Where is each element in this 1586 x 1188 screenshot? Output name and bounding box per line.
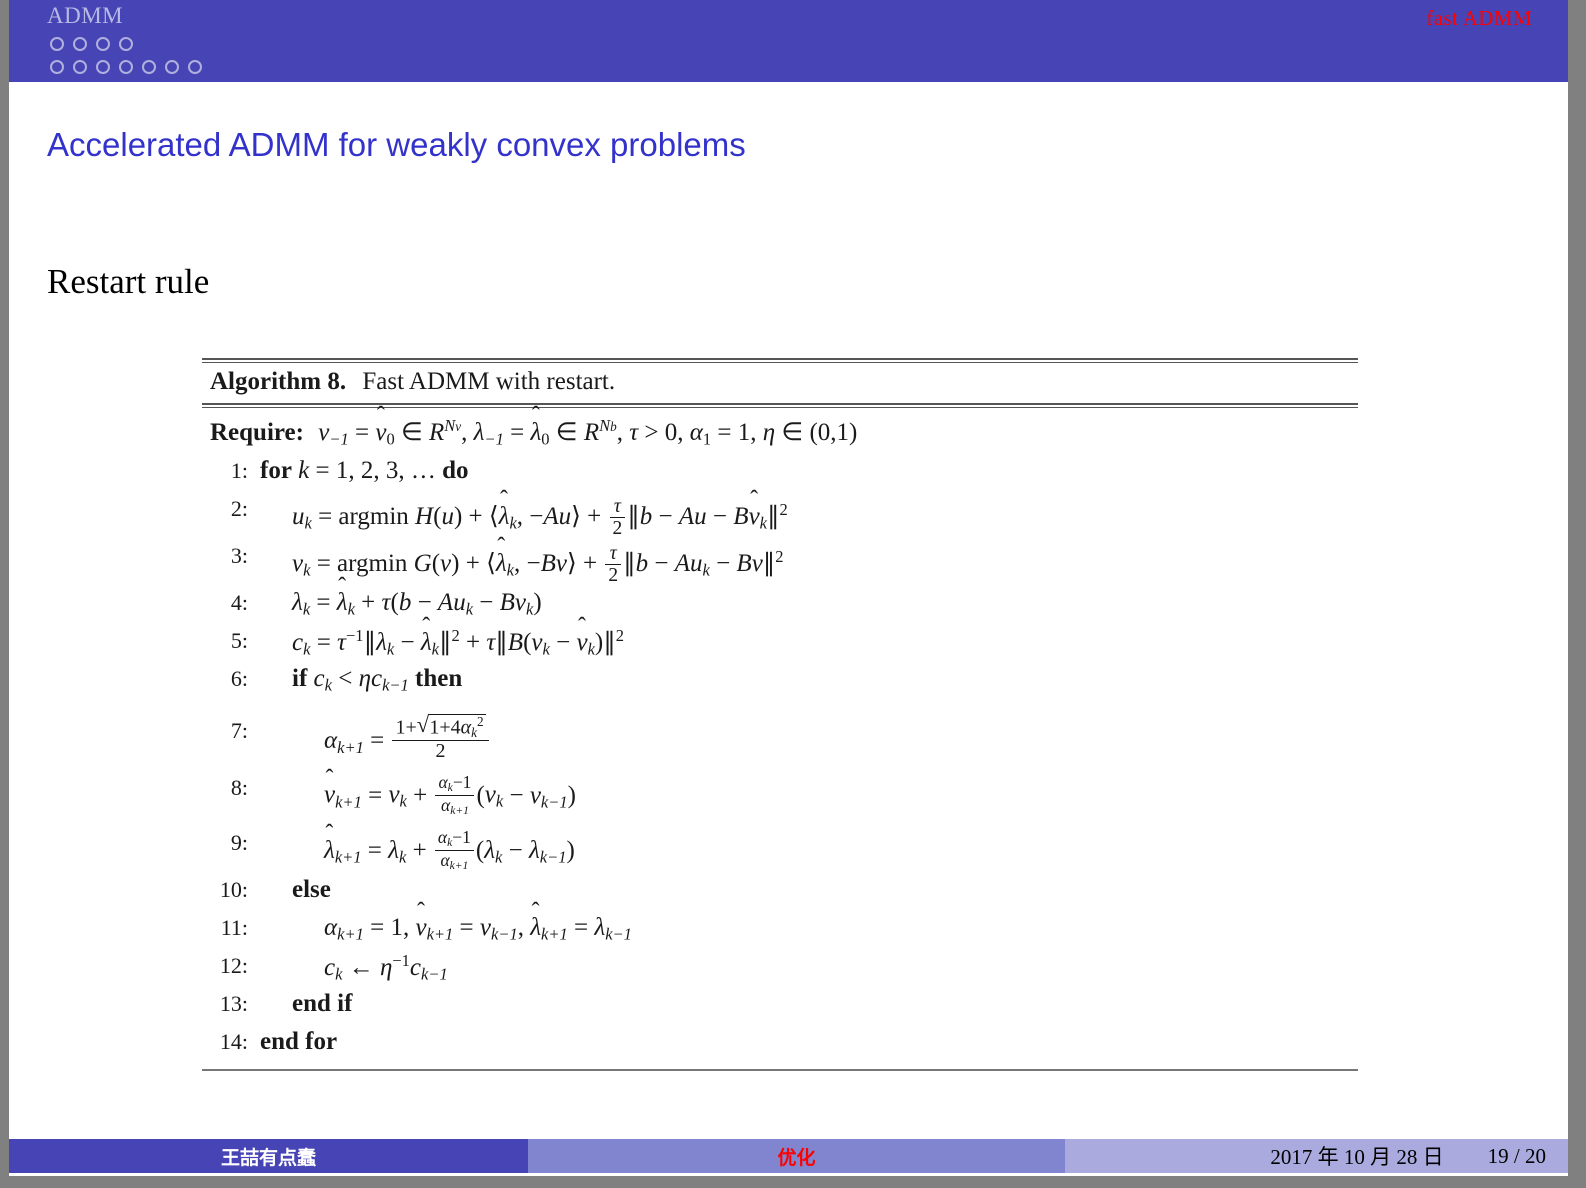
algorithm-line: 3: vk = argmin G(v) + ⟨λ̂k, −Bv⟩ + τ2∥b … — [202, 539, 1358, 586]
algorithm-caption-label: Algorithm 8. — [210, 368, 346, 395]
algorithm-line-number: 11: — [202, 911, 260, 939]
algorithm-line-content: αk+1 = 1, v̂k+1 = vk−1, λ̂k+1 = λk−1 — [260, 911, 1358, 943]
algorithm-line: 9: λ̂k+1 = λk + αk−1αk+1(λk − λk−1) — [202, 818, 1358, 873]
nav-subsection-dot-6[interactable] — [165, 60, 179, 74]
footer-page-number: 19 / 20 — [1488, 1144, 1546, 1169]
algorithm-line: 2: uk = argmin H(u) + ⟨λ̂k, −Au⟩ + τ2∥b … — [202, 492, 1358, 539]
algorithm-line-number: 3: — [202, 539, 260, 567]
algorithm-line-number: 4: — [202, 586, 260, 614]
nav-subsection-dot-3[interactable] — [96, 60, 110, 74]
algorithm-line-number: 9: — [202, 818, 260, 854]
algorithm-require-math: v−1 = v̂0 ∈ RNv, λ−1 = λ̂0 ∈ RNb, τ > 0,… — [318, 419, 857, 446]
nav-subsection-dot-4[interactable] — [119, 60, 133, 74]
nav-subsection-dot-7[interactable] — [188, 60, 202, 74]
slide-page: ADMM fast ADMM Accelerated ADMM for weak… — [9, 0, 1568, 1176]
footer-author: 王喆有点蠢 — [9, 1139, 528, 1173]
algorithm-line-content: v̂k+1 = vk + αk−1αk+1(vk − vk−1) — [260, 763, 1358, 818]
header-section-title: ADMM — [47, 3, 123, 29]
algorithm-line: 6: if ck < ηck−1 then — [202, 662, 1358, 700]
slide-frame: ADMM fast ADMM Accelerated ADMM for weak… — [0, 0, 1586, 1188]
algorithm-line-content: if ck < ηck−1 then — [260, 662, 1358, 694]
algorithm-box: Algorithm 8. Fast ADMM with restart. Req… — [202, 358, 1358, 1071]
algorithm-line-number: 14: — [202, 1025, 260, 1053]
algorithm-line-number: 1: — [202, 454, 260, 482]
nav-subsection-dot-2[interactable] — [73, 60, 87, 74]
header-subsection-title: fast ADMM — [1426, 6, 1532, 31]
algorithm-line: 11: αk+1 = 1, v̂k+1 = vk−1, λ̂k+1 = λk−1 — [202, 911, 1358, 949]
algorithm-line-content: else — [260, 873, 1358, 902]
algorithm-line-number: 13: — [202, 987, 260, 1015]
algorithm-line: 10: else — [202, 873, 1358, 911]
algorithm-line-content: λk = λ̂k + τ(b − Auk − Bvk) — [260, 586, 1358, 618]
algorithm-line: 13: end if — [202, 987, 1358, 1025]
algorithm-line-content: vk = argmin G(v) + ⟨λ̂k, −Bv⟩ + τ2∥b − A… — [260, 539, 1358, 586]
nav-subsection-dot-1[interactable] — [50, 60, 64, 74]
algorithm-line-number: 5: — [202, 624, 260, 652]
algorithm-line-number: 2: — [202, 492, 260, 520]
algorithm-line-list: 1: for k = 1, 2, 3, … do 2: uk = argmin … — [202, 452, 1358, 1064]
algorithm-caption: Algorithm 8. Fast ADMM with restart. — [202, 363, 1358, 401]
nav-subsections-row — [50, 60, 202, 74]
header-bar: ADMM fast ADMM — [9, 0, 1568, 82]
algorithm-line: 4: λk = λ̂k + τ(b − Auk − Bvk) — [202, 586, 1358, 624]
nav-section-dot-4[interactable] — [119, 37, 133, 51]
algorithm-line: 14: end for — [202, 1025, 1358, 1063]
algorithm-require-line: Require: v−1 = v̂0 ∈ RNv, λ−1 = λ̂0 ∈ RN… — [202, 408, 1358, 452]
algorithm-line-content: ck ← η−1ck−1 — [260, 949, 1358, 983]
algorithm-line-content: end if — [260, 987, 1358, 1016]
footer-talk-title: 优化 — [528, 1139, 1065, 1173]
algorithm-line-number: 12: — [202, 949, 260, 977]
algorithm-line-content: λ̂k+1 = λk + αk−1αk+1(λk − λk−1) — [260, 818, 1358, 873]
footer-date: 2017 年 10 月 28 日 — [1270, 1141, 1443, 1171]
algorithm-rule-bottom — [202, 1069, 1358, 1071]
algorithm-line-content: αk+1 = 1+√1+4αk22 — [260, 700, 1358, 763]
nav-sections-row — [50, 37, 133, 51]
slide-title: Accelerated ADMM for weakly convex probl… — [47, 126, 746, 164]
footer-bar: 王喆有点蠢 优化 2017 年 10 月 28 日 19 / 20 — [9, 1139, 1568, 1173]
algorithm-line-content: uk = argmin H(u) + ⟨λ̂k, −Au⟩ + τ2∥b − A… — [260, 492, 1358, 539]
algorithm-line: 5: ck = τ−1∥λk − λ̂k∥2 + τ∥B(vk − v̂k)∥2 — [202, 624, 1358, 662]
algorithm-line-content: end for — [260, 1025, 1358, 1054]
algorithm-line: 12: ck ← η−1ck−1 — [202, 949, 1358, 987]
algorithm-require-label: Require: — [210, 419, 304, 446]
algorithm-line-number: 6: — [202, 662, 260, 690]
algorithm-line: 7: αk+1 = 1+√1+4αk22 — [202, 700, 1358, 763]
nav-section-dot-2[interactable] — [73, 37, 87, 51]
algorithm-line: 8: v̂k+1 = vk + αk−1αk+1(vk − vk−1) — [202, 763, 1358, 818]
nav-section-dot-1[interactable] — [50, 37, 64, 51]
algorithm-line-number: 10: — [202, 873, 260, 901]
block-heading: Restart rule — [47, 262, 209, 302]
algorithm-line: 1: for k = 1, 2, 3, … do — [202, 454, 1358, 492]
algorithm-line-number: 8: — [202, 763, 260, 799]
algorithm-caption-text: Fast ADMM with restart. — [362, 368, 615, 395]
algorithm-line-content: ck = τ−1∥λk − λ̂k∥2 + τ∥B(vk − v̂k)∥2 — [260, 624, 1358, 658]
algorithm-line-content: for k = 1, 2, 3, … do — [260, 454, 1358, 483]
nav-section-dot-3[interactable] — [96, 37, 110, 51]
algorithm-line-number: 7: — [202, 700, 260, 742]
nav-subsection-dot-5[interactable] — [142, 60, 156, 74]
footer-meta: 2017 年 10 月 28 日 19 / 20 — [1065, 1139, 1568, 1173]
